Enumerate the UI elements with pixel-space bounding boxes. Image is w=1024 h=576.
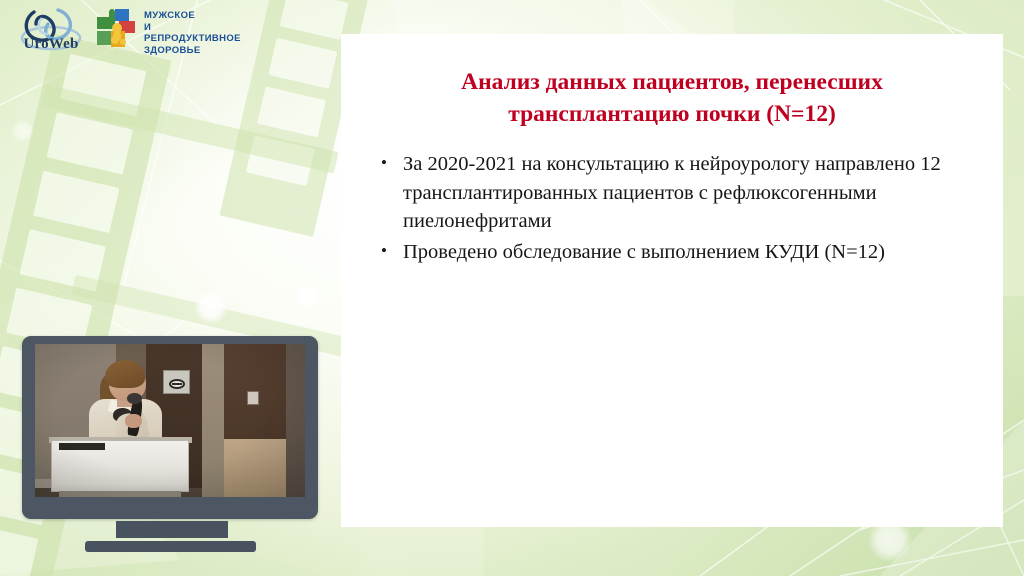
monitor-stand-neck — [116, 521, 228, 538]
slide-panel: Анализ данных пациентов, перенесших тран… — [341, 34, 1003, 527]
uroweb-wordmark: UroWeb — [14, 36, 88, 53]
video-screen[interactable] — [35, 344, 305, 497]
slide-bullet-list: За 2020-2021 на консультацию к нейроурол… — [375, 150, 975, 268]
mrz-wordmark: МУЖСКОЕ И РЕПРОДУКТИВНОЕ ЗДОРОВЬЕ — [144, 10, 241, 56]
video-vignette — [35, 344, 305, 497]
list-item: За 2020-2021 на консультацию к нейроурол… — [375, 150, 975, 236]
list-item: Проведено обследование с выполнением КУД… — [375, 238, 975, 267]
slide-title: Анализ данных пациентов, перенесших тран… — [379, 66, 965, 130]
monitor-stand-base — [85, 541, 256, 552]
puzzle-family-icon — [93, 5, 139, 51]
slide-stage: UroWeb МУЖСКОЕ И РЕПРОДУКТИВНОЕ ЗДОРОВЬЕ… — [0, 0, 1024, 576]
